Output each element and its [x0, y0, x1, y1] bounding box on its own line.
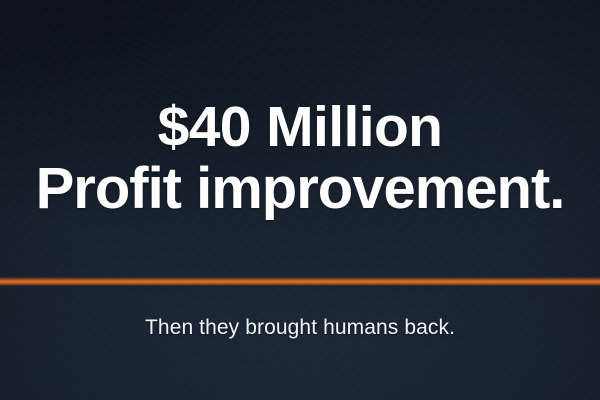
headline-line-2: Profit improvement.: [0, 158, 600, 220]
subtitle-text: Then they brought humans back.: [0, 315, 600, 341]
headline: $40 Million Profit improvement.: [0, 96, 600, 220]
accent-divider-rule: [0, 277, 600, 286]
headline-line-1: $40 Million: [0, 96, 600, 158]
slide-canvas: $40 Million Profit improvement. Then the…: [0, 0, 600, 400]
